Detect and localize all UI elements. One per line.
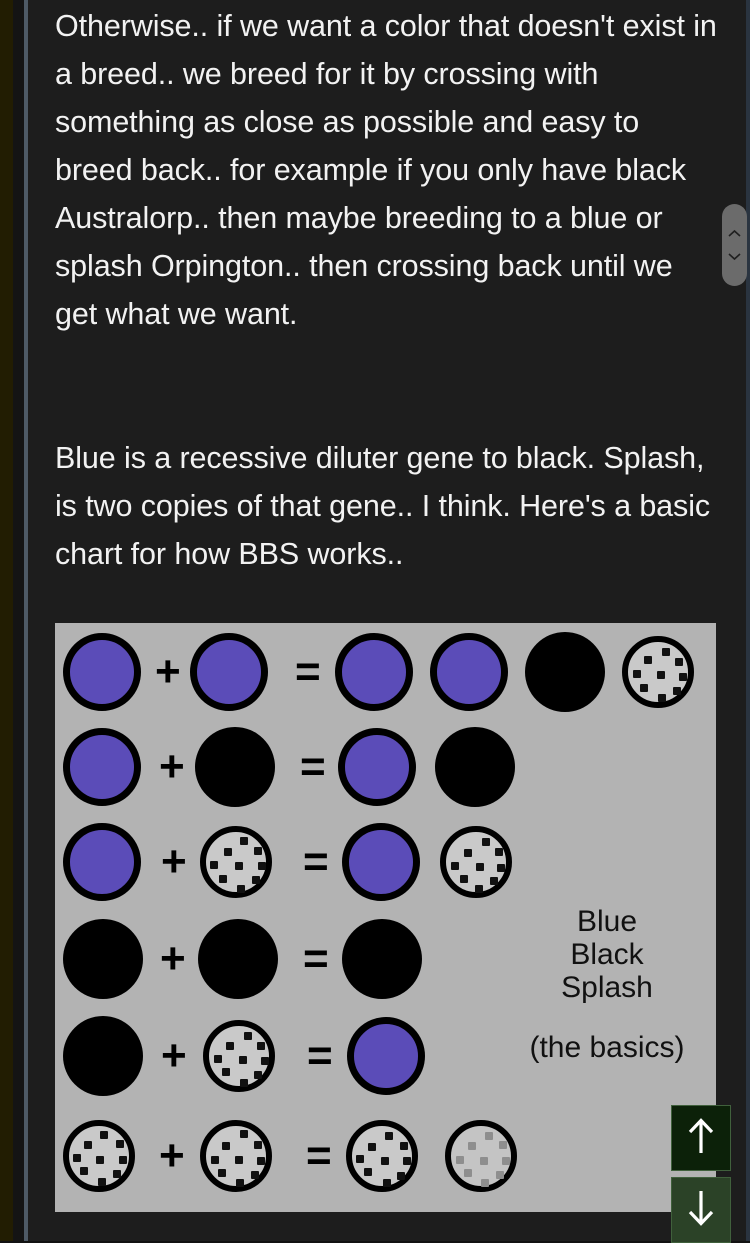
equals-symbol: =: [306, 1134, 332, 1178]
offspring-chip-splash: [440, 826, 512, 898]
legend-line-splash: Splash: [507, 971, 707, 1004]
chart-legend: Blue Black Splash: [507, 905, 707, 1004]
chevron-down-icon: [728, 252, 741, 261]
equals-symbol: =: [303, 840, 329, 884]
offspring-chip-blue: [347, 1017, 425, 1095]
plus-symbol: +: [159, 745, 185, 789]
offspring-chip-black: [525, 632, 605, 712]
offspring-chip-blue: [335, 633, 413, 711]
parent-chip-splash: [200, 1120, 272, 1192]
parent-chip-blue: [63, 633, 141, 711]
article-paragraph-1: Otherwise.. if we want a color that does…: [55, 2, 723, 338]
chevron-up-icon: [728, 229, 741, 238]
offspring-chip-blue: [430, 633, 508, 711]
plus-symbol: +: [160, 937, 186, 981]
parent-chip-black: [63, 919, 143, 999]
chart-row: + =: [55, 1107, 716, 1204]
legend-line-blue: Blue: [507, 905, 707, 938]
equals-symbol: =: [307, 1034, 333, 1078]
plus-symbol: +: [159, 1134, 185, 1178]
parent-chip-splash: [63, 1120, 135, 1192]
left-olive-strip: [0, 0, 13, 1241]
left-dark-gutter: [13, 0, 24, 1241]
parent-chip-blue: [63, 823, 141, 901]
offspring-chip-splash: [346, 1120, 418, 1192]
chart-note: (the basics): [492, 1031, 716, 1064]
equals-symbol: =: [300, 745, 326, 789]
scroll-up-button[interactable]: [671, 1105, 731, 1171]
parent-chip-black: [63, 1016, 143, 1096]
equals-symbol: =: [303, 937, 329, 981]
parent-chip-splash: [200, 826, 272, 898]
article-paragraph-2: Blue is a recessive diluter gene to blac…: [55, 434, 723, 578]
bbs-genetics-chart-image[interactable]: + = +: [55, 623, 716, 1212]
equals-symbol: =: [295, 650, 321, 694]
parent-chip-blue: [63, 728, 141, 806]
legend-line-black: Black: [507, 938, 707, 971]
chart-row: + =: [55, 813, 716, 910]
arrow-up-icon: [686, 1117, 716, 1160]
offspring-chip-blue: [342, 823, 420, 901]
plus-symbol: +: [155, 650, 181, 694]
offspring-chip-black: [342, 919, 422, 999]
parent-chip-black: [195, 727, 275, 807]
offspring-chip-blue: [338, 728, 416, 806]
plus-symbol: +: [161, 1034, 187, 1078]
parent-chip-blue: [190, 633, 268, 711]
chart-row: + =: [55, 623, 716, 720]
scrollbar-thumb[interactable]: [722, 204, 747, 286]
offspring-chip-splash-faded: [445, 1120, 517, 1192]
arrow-down-icon: [686, 1189, 716, 1232]
plus-symbol: +: [161, 840, 187, 884]
right-edge-strip: [746, 0, 750, 1241]
offspring-chip-splash: [622, 636, 694, 708]
parent-chip-splash: [203, 1020, 275, 1092]
article-content-pane[interactable]: Otherwise.. if we want a color that does…: [28, 0, 746, 1241]
offspring-chip-black: [435, 727, 515, 807]
chart-row: + =: [55, 718, 716, 815]
parent-chip-black: [198, 919, 278, 999]
scroll-down-button[interactable]: [671, 1177, 731, 1243]
